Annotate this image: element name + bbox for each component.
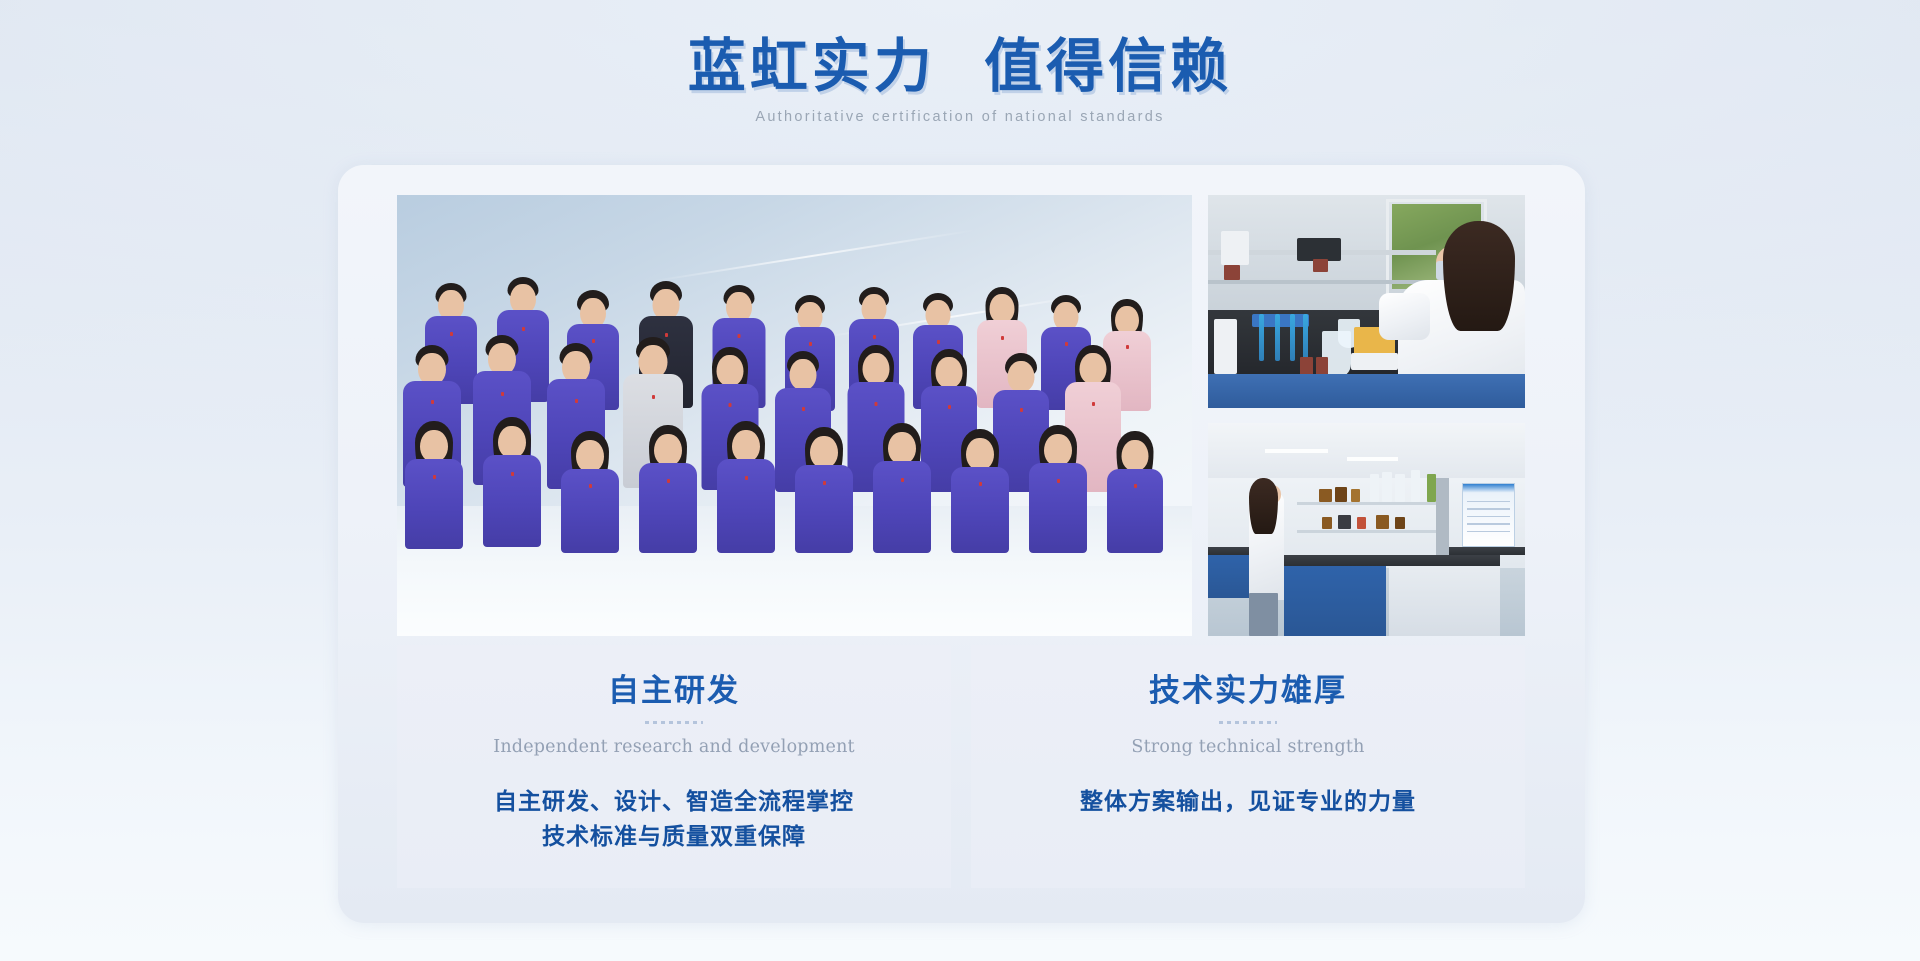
- card-divider: [1219, 721, 1277, 724]
- content-panel: 自主研发 Independent research and developmen…: [338, 165, 1585, 923]
- card-subtitle: Strong technical strength: [971, 737, 1525, 757]
- group-photo-people: [397, 195, 1192, 636]
- page-title: 蓝虹实力 值得信赖: [0, 34, 1920, 99]
- card-description: 自主研发、设计、智造全流程掌控 技术标准与质量双重保障: [397, 785, 951, 854]
- card-title: 技术实力雄厚: [971, 673, 1525, 710]
- laboratory-room-photo: [1208, 423, 1525, 636]
- card-description: 整体方案输出，见证专业的力量: [971, 785, 1525, 820]
- lab-technician-photo: [1208, 195, 1525, 408]
- card-divider: [645, 721, 703, 724]
- photo-gallery: [397, 195, 1525, 636]
- feature-card-independent-rd: 自主研发 Independent research and developmen…: [397, 645, 951, 888]
- page-subtitle: Authoritative certification of national …: [0, 109, 1920, 125]
- page-header: 蓝虹实力 值得信赖 Authoritative certification of…: [0, 0, 1920, 125]
- card-subtitle: Independent research and development: [397, 737, 951, 757]
- feature-card-technical-strength: 技术实力雄厚 Strong technical strength 整体方案输出，…: [971, 645, 1525, 888]
- team-group-photo: [397, 195, 1192, 636]
- card-title: 自主研发: [397, 673, 951, 710]
- feature-cards: 自主研发 Independent research and developmen…: [397, 645, 1525, 888]
